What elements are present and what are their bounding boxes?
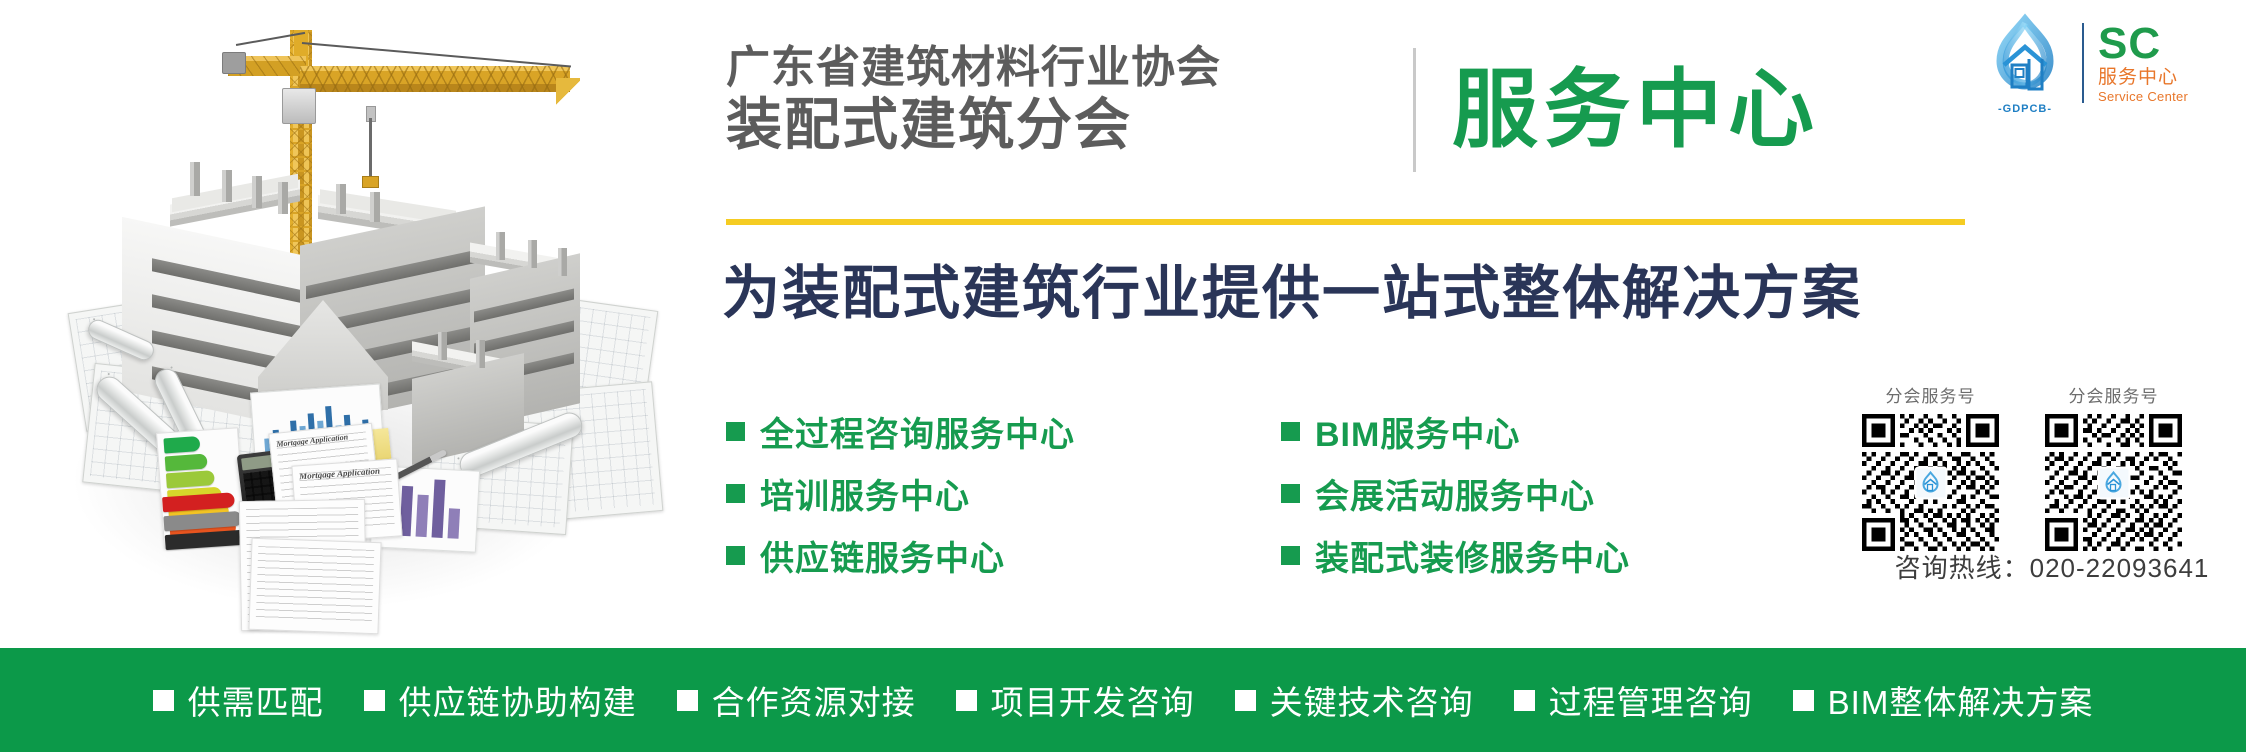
service-column-left: 全过程咨询服务中心 培训服务中心 供应链服务中心 — [726, 400, 1281, 586]
service-item-label: 培训服务中心 — [760, 469, 970, 518]
bottom-bar-item[interactable]: 过程管理咨询 — [1514, 676, 1753, 724]
bottom-bar-label: 供需匹配 — [188, 676, 324, 724]
mortgage-application-form — [248, 538, 381, 634]
crane-tie-bar-front — [302, 42, 571, 67]
form-header: Mortgage Application — [299, 466, 380, 482]
bottom-bar-label: 合作资源对接 — [712, 676, 916, 724]
rebar-column — [190, 162, 200, 196]
qr-code-branch-service-2: 分会服务号 — [2045, 382, 2182, 551]
energy-row — [163, 511, 242, 531]
rebar-column — [222, 170, 232, 202]
bottom-bar-label: BIM整体解决方案 — [1828, 676, 2094, 724]
bottom-bar-items: 供需匹配 供应链协助构建 合作资源对接 项目开发咨询 关键技术咨询 过程管理咨询 — [153, 676, 2094, 724]
gdpcb-logo-svg — [1972, 13, 2078, 99]
service-item-label: BIM服务中心 — [1315, 407, 1520, 456]
gdpcb-logo-text: -GDPCB- — [1972, 103, 2078, 115]
construction-site-3d-illustration: Mortgage Application Mortgage Applicatio… — [0, 0, 660, 648]
green-square-icon — [726, 422, 745, 441]
service-item-label: 装配式装修服务中心 — [1315, 531, 1630, 580]
white-square-icon — [956, 690, 977, 711]
hotline-text: 咨询热线：020-22093641 — [1862, 548, 2242, 585]
white-square-icon — [1514, 690, 1535, 711]
crane-counterweight — [222, 52, 246, 74]
service-item[interactable]: 全过程咨询服务中心 — [726, 400, 1281, 462]
rebar-column — [438, 332, 447, 360]
service-item[interactable]: BIM服务中心 — [1281, 400, 1836, 462]
qr-image[interactable] — [1862, 414, 1999, 551]
white-square-icon — [153, 690, 174, 711]
service-item-label: 供应链服务中心 — [760, 531, 1005, 580]
rebar-column — [476, 340, 485, 368]
rebar-column — [496, 232, 505, 260]
bottom-bar-label: 过程管理咨询 — [1549, 676, 1753, 724]
qr-center-logo — [1914, 466, 1947, 499]
bottom-service-bar: 供需匹配 供应链协助构建 合作资源对接 项目开发咨询 关键技术咨询 过程管理咨询 — [0, 648, 2246, 752]
chart-bar — [432, 479, 446, 537]
white-square-icon — [677, 690, 698, 711]
service-item[interactable]: 培训服务中心 — [726, 462, 1281, 524]
energy-row — [165, 529, 250, 550]
rebar-column — [528, 240, 537, 268]
logo-chinese-text: 服务中心 — [2098, 67, 2188, 89]
bottom-bar-label: 关键技术咨询 — [1270, 676, 1474, 724]
crane-jib — [300, 66, 570, 92]
logo-divider — [2082, 23, 2084, 103]
green-square-icon — [726, 484, 745, 503]
qr-image[interactable] — [2045, 414, 2182, 551]
gdpcb-mini-logo — [1919, 471, 1943, 495]
white-square-icon — [364, 690, 385, 711]
crane-hook-block — [362, 176, 379, 188]
title-vertical-divider — [1413, 48, 1416, 172]
crane-hoist-rope — [369, 118, 372, 178]
service-item[interactable]: 装配式装修服务中心 — [1281, 524, 1836, 586]
association-name-line1: 广东省建筑材料行业协会 — [726, 42, 1346, 94]
brand-logo: -GDPCB- SC 服务中心 Service Center — [1972, 12, 2240, 114]
service-column-right: BIM服务中心 会展活动服务中心 装配式装修服务中心 — [1281, 400, 1836, 586]
crane-operator-cab — [282, 88, 316, 124]
bottom-bar-item[interactable]: 供需匹配 — [153, 676, 324, 724]
bottom-bar-label: 供应链协助构建 — [399, 676, 637, 724]
qr-center-logo — [2097, 466, 2130, 499]
qr-code-branch-service-1: 分会服务号 — [1862, 382, 1999, 551]
crane-jib-tip — [556, 78, 580, 108]
qr-code-group: 分会服务号 — [1862, 382, 2242, 551]
chart-bar — [416, 495, 429, 538]
energy-row — [165, 454, 208, 472]
energy-row — [166, 470, 215, 488]
gdpcb-mini-logo — [2102, 471, 2126, 495]
gdpcb-house-flame-logo: -GDPCB- — [1972, 13, 2078, 113]
rebar-column — [370, 192, 380, 222]
rebar-column — [336, 184, 346, 214]
service-center-banner: Mortgage Application Mortgage Applicatio… — [0, 0, 2246, 752]
rebar-column — [558, 248, 567, 276]
bottom-bar-item[interactable]: 合作资源对接 — [677, 676, 916, 724]
rebar-column — [252, 176, 262, 208]
white-square-icon — [1235, 690, 1256, 711]
association-name-line2: 装配式建筑分会 — [726, 94, 1346, 156]
service-item[interactable]: 会展活动服务中心 — [1281, 462, 1836, 524]
qr-caption: 分会服务号 — [2045, 382, 2182, 407]
form-header: Mortgage Application — [276, 432, 348, 448]
chart-bar — [448, 508, 461, 539]
bottom-bar-item[interactable]: BIM整体解决方案 — [1793, 676, 2094, 724]
tagline: 为装配式建筑行业提供一站式整体解决方案 — [722, 260, 1862, 328]
rebar-column — [278, 182, 288, 214]
green-square-icon — [726, 546, 745, 565]
bottom-bar-item[interactable]: 关键技术咨询 — [1235, 676, 1474, 724]
bottom-bar-item[interactable]: 供应链协助构建 — [364, 676, 637, 724]
logo-english-text: Service Center — [2098, 89, 2188, 104]
logo-text-group: SC 服务中心 Service Center — [2098, 23, 2188, 104]
logo-sc-text: SC — [2098, 23, 2188, 65]
service-item-label: 全过程咨询服务中心 — [760, 407, 1075, 456]
service-item[interactable]: 供应链服务中心 — [726, 524, 1281, 586]
service-center-title: 服务中心 — [1452, 48, 1820, 172]
service-center-list: 全过程咨询服务中心 培训服务中心 供应链服务中心 BIM服务中心 会展活动服务中… — [726, 400, 1836, 586]
service-item-label: 会展活动服务中心 — [1315, 469, 1595, 518]
energy-row — [163, 436, 200, 453]
green-square-icon — [1281, 546, 1300, 565]
white-square-icon — [1793, 690, 1814, 711]
qr-caption: 分会服务号 — [1862, 382, 1999, 407]
bottom-bar-item[interactable]: 项目开发咨询 — [956, 676, 1195, 724]
bottom-bar-label: 项目开发咨询 — [991, 676, 1195, 724]
green-square-icon — [1281, 484, 1300, 503]
green-square-icon — [1281, 422, 1300, 441]
yellow-divider-line — [726, 219, 1965, 225]
association-title: 广东省建筑材料行业协会 装配式建筑分会 — [726, 42, 1346, 156]
